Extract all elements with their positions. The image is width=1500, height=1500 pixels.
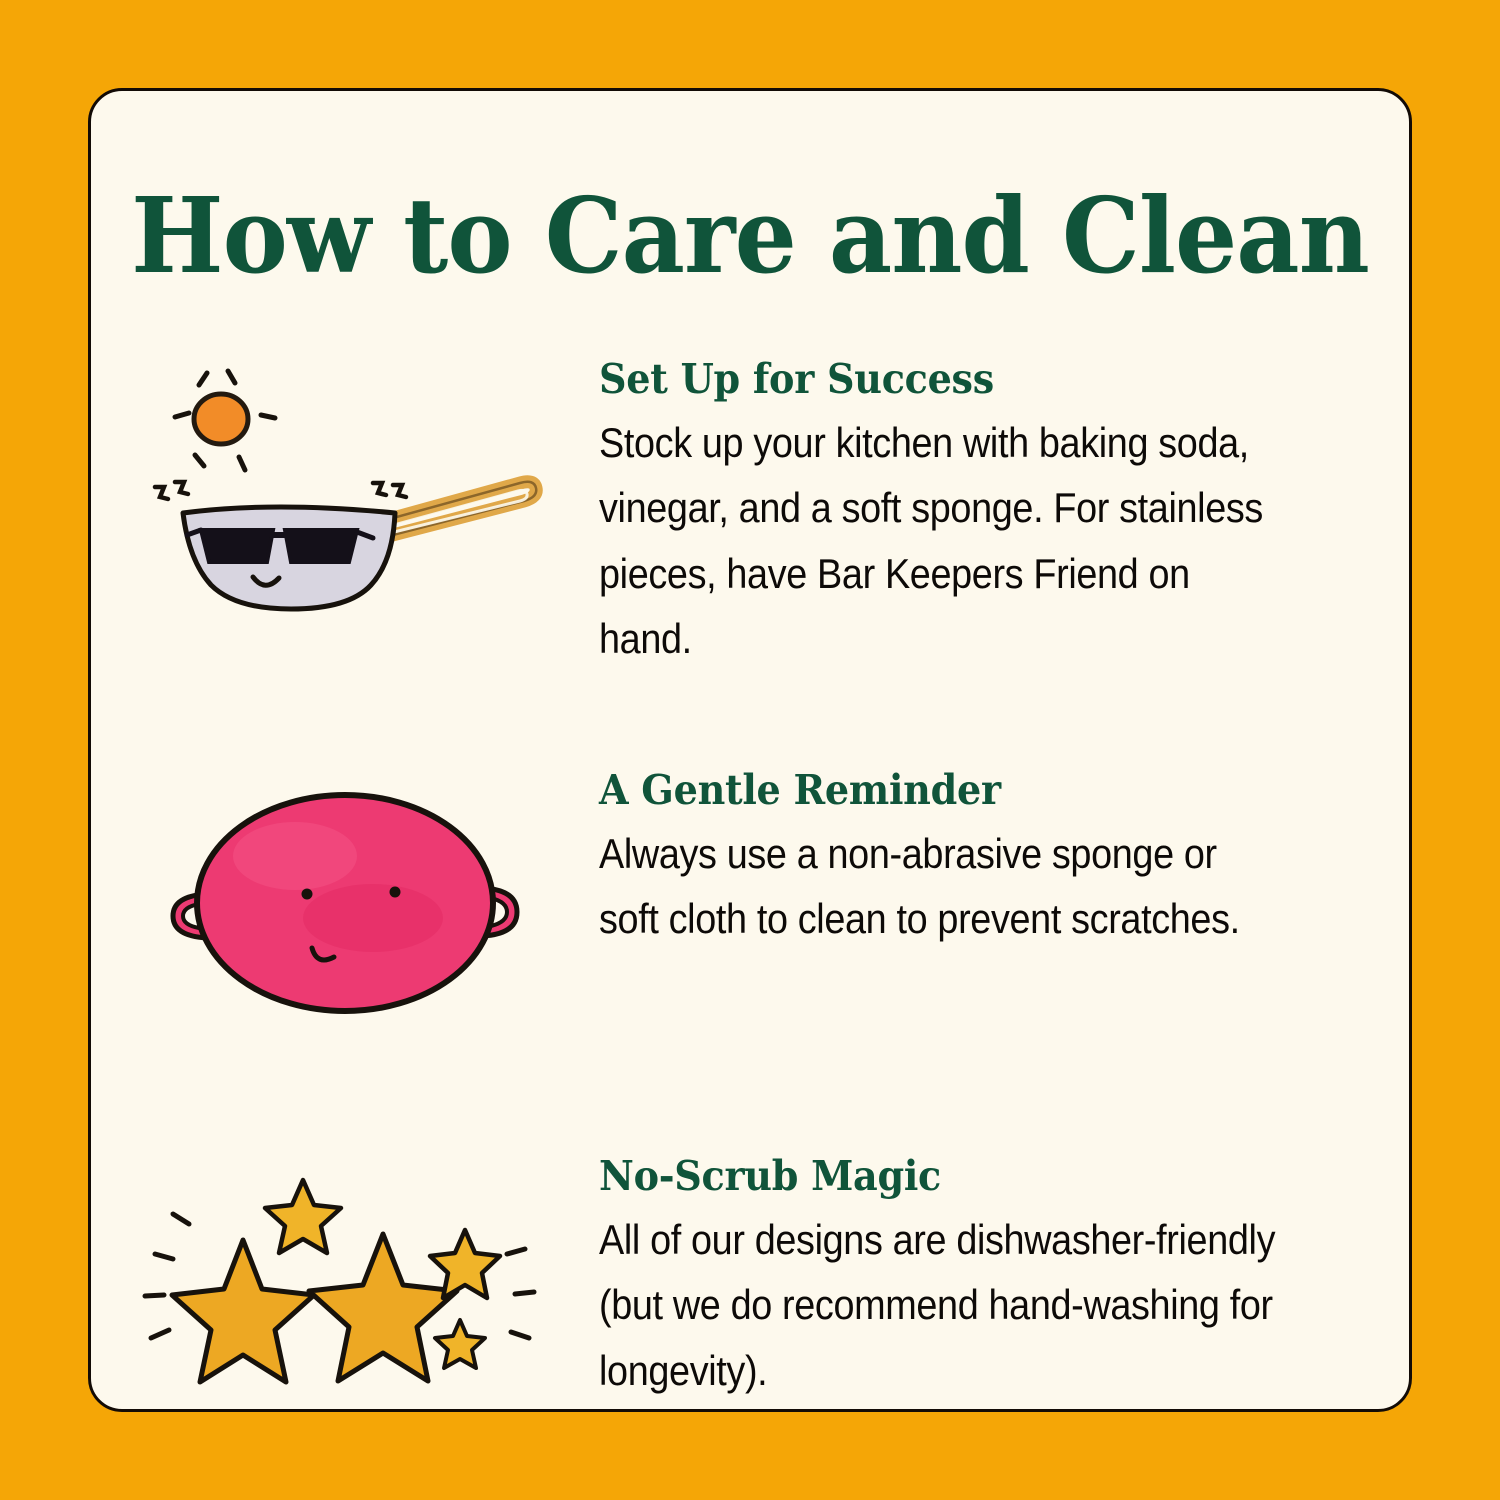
- section-body: Stock up your kitchen with baking soda, …: [599, 410, 1276, 672]
- page-title: How to Care and Clean: [131, 183, 1370, 289]
- gold-sparkling-stars-icon: [91, 1150, 599, 1402]
- section-heading: A Gentle Reminder: [599, 768, 1298, 814]
- content-card: How to Care and Clean: [88, 88, 1412, 1412]
- section-row: Set Up for Success Stock up your kitchen…: [91, 353, 1409, 672]
- section-copy: A Gentle Reminder Always use a non-abras…: [599, 764, 1409, 952]
- section-heading: Set Up for Success: [599, 357, 1298, 403]
- pink-oval-pot-with-smiling-face-icon: [91, 764, 599, 1026]
- section-row: A Gentle Reminder Always use a non-abras…: [91, 764, 1409, 1064]
- poster-root: How to Care and Clean: [0, 0, 1500, 1500]
- sections-list: Set Up for Success Stock up your kitchen…: [91, 353, 1409, 1412]
- section-body: All of our designs are dishwasher-friend…: [599, 1207, 1276, 1404]
- section-copy: Set Up for Success Stock up your kitchen…: [599, 353, 1409, 672]
- section-copy: No-Scrub Magic All of our designs are di…: [599, 1150, 1409, 1403]
- frying-pan-with-sunglasses-and-sun-icon: [91, 353, 599, 615]
- section-row: No-Scrub Magic All of our designs are di…: [91, 1150, 1409, 1412]
- section-heading: No-Scrub Magic: [599, 1154, 1298, 1200]
- section-body: Always use a non-abrasive sponge or soft…: [599, 821, 1276, 952]
